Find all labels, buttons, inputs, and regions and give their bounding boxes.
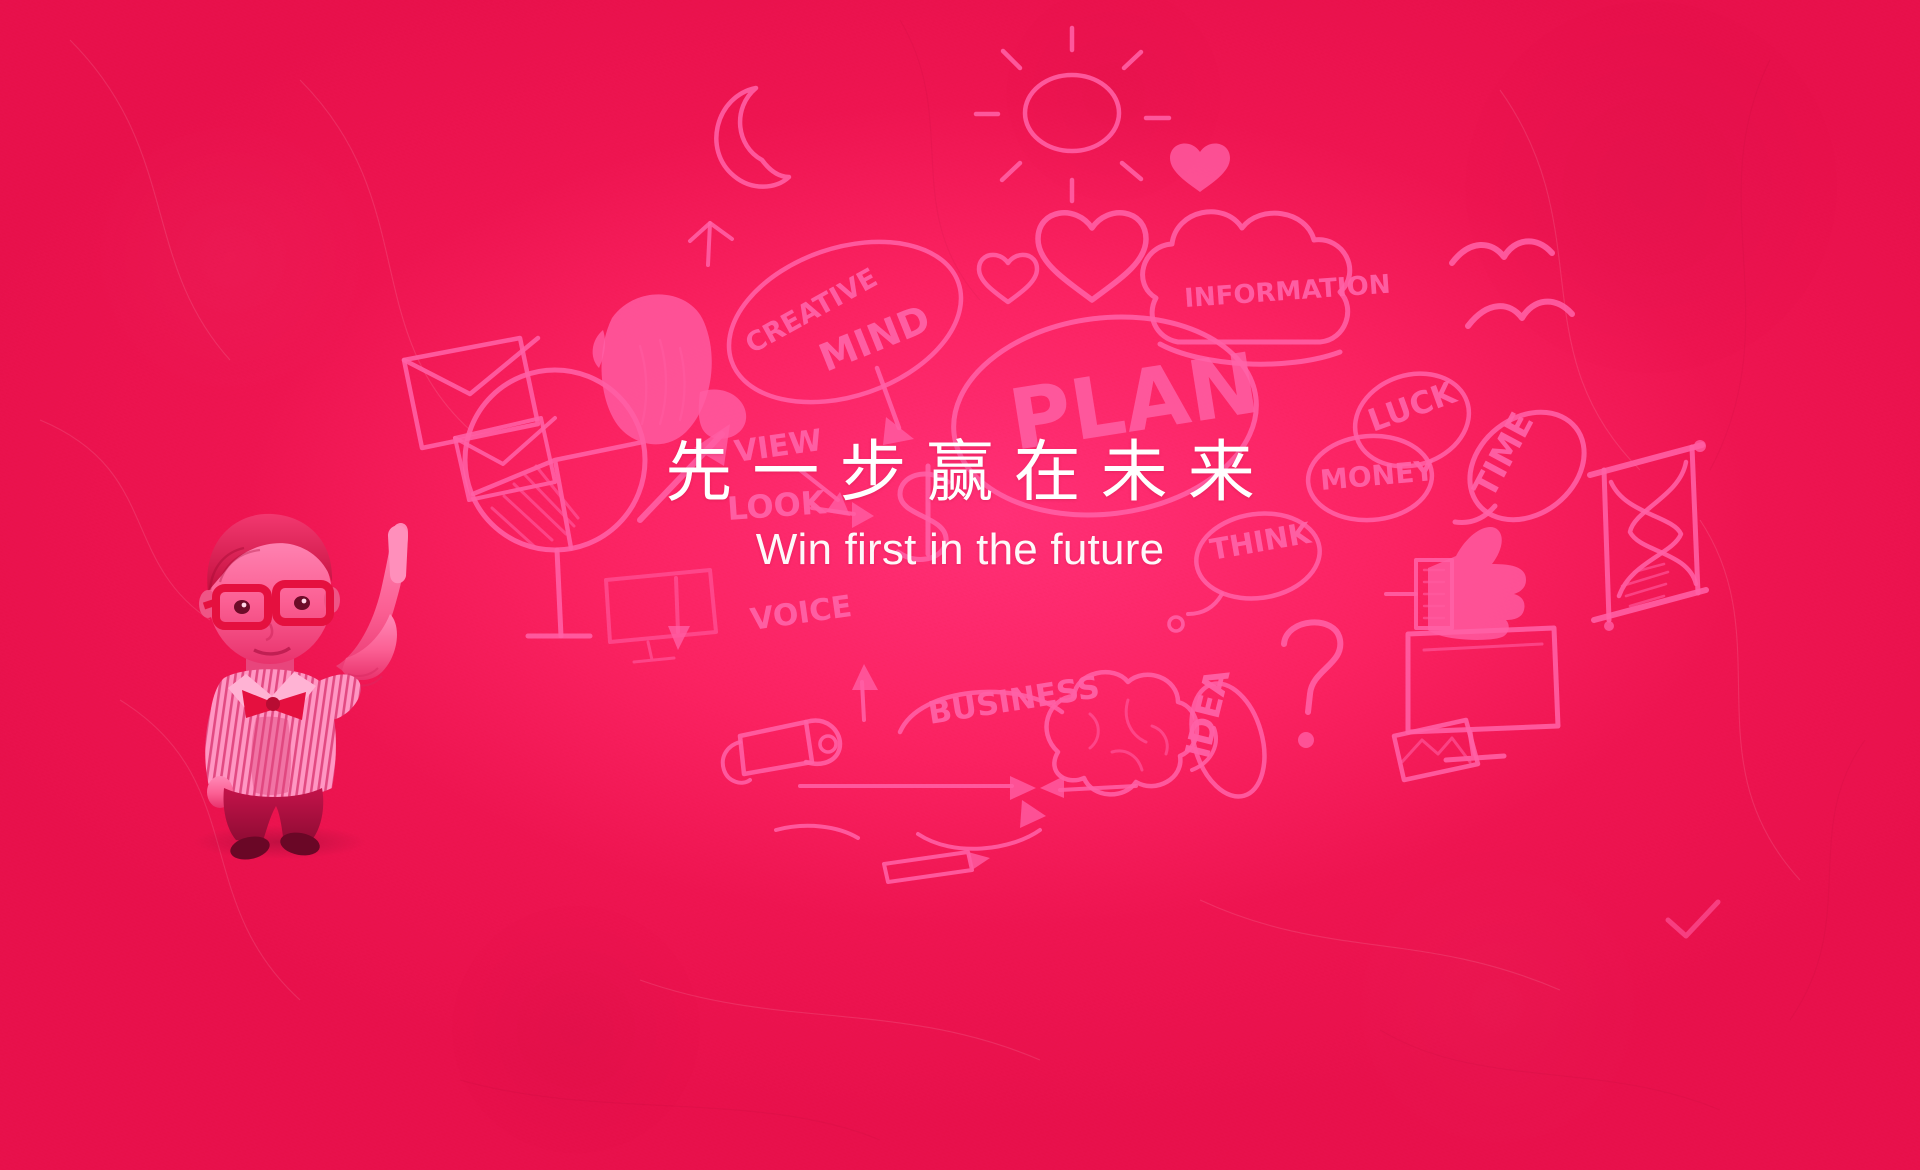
head [199, 514, 340, 664]
doodle-label-information: INFORMATION [1183, 270, 1391, 314]
doodle-label-idea: IDEA [1178, 664, 1239, 762]
check-icon [1668, 902, 1718, 936]
speech-bubble-icon [1449, 390, 1606, 542]
monitor-icon [1408, 628, 1558, 760]
doodle-label-plan: PLAN [1003, 334, 1266, 470]
doodle-label-voice: VOICE [748, 589, 854, 638]
sun-icon [976, 28, 1169, 201]
arrow-icon [668, 578, 690, 650]
heart-icon [1038, 213, 1146, 300]
hourglass-icon [1590, 440, 1706, 631]
moon-icon [716, 88, 789, 187]
speech-bubble-icon [707, 213, 982, 431]
monitor-icon [606, 570, 716, 662]
arrow-icon [690, 223, 732, 265]
trophy-icon [593, 294, 747, 444]
doodle-question-mark [1284, 622, 1340, 748]
doodle-label-luck: LUCK [1363, 374, 1461, 439]
doodle-label-look: LOOK [726, 483, 828, 528]
thumbs-up-icon [1386, 527, 1526, 640]
megaphone-icon [723, 721, 840, 783]
banner-stage: INFORMATION CREATIVE MIND PLAN LUCK MONE… [0, 0, 1920, 1170]
doodle-label-business: BUSINESS [926, 669, 1103, 732]
pencil-icon [884, 852, 990, 882]
doodle-label-view: VIEW [732, 423, 824, 470]
boy-pointing-figure [150, 470, 470, 860]
heart-icon [1170, 143, 1230, 192]
doodle-dollar-sign [898, 466, 948, 559]
bird-icon [1452, 241, 1572, 326]
doodle-label-money: MONEY [1319, 454, 1437, 497]
heart-icon [979, 255, 1037, 302]
pointing-arm [336, 523, 408, 686]
